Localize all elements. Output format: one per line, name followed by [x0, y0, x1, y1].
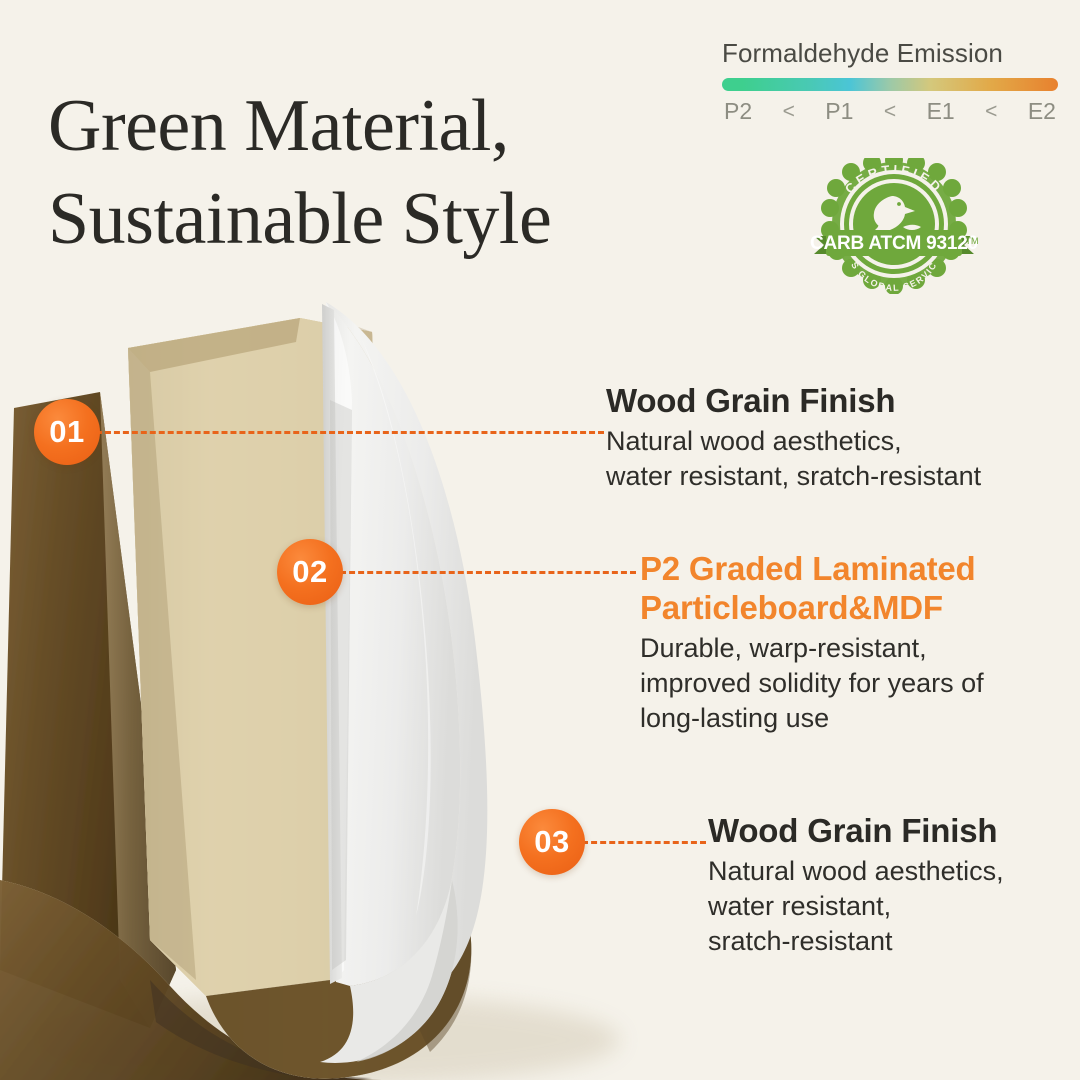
emission-label-e2: E2	[1028, 98, 1056, 125]
layered-board-illustration	[0, 280, 700, 1080]
badge-trademark: TM	[966, 236, 979, 246]
white-laminate-layer	[320, 302, 487, 1063]
formaldehyde-emission-scale: Formaldehyde Emission P2 < P1 < E1 < E2	[722, 38, 1058, 125]
callout-2-title-line-1: P2 Graded Laminated	[640, 550, 984, 589]
carb-certification-badge: CERTIFIED CARB ATCM 93120 TM SCS GLOBAL …	[796, 158, 992, 294]
callout-wood-grain-finish-bottom: Wood Grain Finish Natural wood aesthetic…	[708, 812, 1004, 959]
headline-line-2: Sustainable Style	[48, 173, 748, 266]
callout-3-body: Natural wood aesthetics, water resistant…	[708, 854, 1004, 959]
emission-label-p1: P1	[825, 98, 853, 125]
emission-gradient-bar	[722, 78, 1058, 91]
emission-title: Formaldehyde Emission	[722, 38, 1058, 69]
emission-scale-labels: P2 < P1 < E1 < E2	[722, 98, 1058, 125]
callout-3-body-line-2: water resistant,	[708, 889, 1004, 924]
emission-label-p2: P2	[724, 98, 752, 125]
emission-separator-2: <	[884, 100, 896, 124]
emission-separator-1: <	[783, 100, 795, 124]
callout-p2-graded-laminated: P2 Graded Laminated Particleboard&MDF Du…	[640, 550, 984, 736]
callout-2-body-line-2: improved solidity for years of	[640, 666, 984, 701]
callout-3-body-line-1: Natural wood aesthetics,	[708, 854, 1004, 889]
headline-line-1: Green Material,	[48, 85, 509, 167]
callout-wood-grain-finish-top: Wood Grain Finish Natural wood aesthetic…	[606, 382, 981, 494]
callout-2-body-line-1: Durable, warp-resistant,	[640, 631, 984, 666]
leader-line-1	[96, 431, 604, 434]
emission-label-e1: E1	[927, 98, 955, 125]
callout-2-body-line-3: long-lasting use	[640, 701, 984, 736]
callout-1-title: Wood Grain Finish	[606, 382, 981, 421]
callout-3-title: Wood Grain Finish	[708, 812, 1004, 851]
marker-03[interactable]: 03	[519, 809, 585, 875]
leader-line-3	[582, 841, 706, 844]
callout-1-body-line-1: Natural wood aesthetics,	[606, 424, 981, 459]
callout-2-body: Durable, warp-resistant, improved solidi…	[640, 631, 984, 736]
callout-2-title: P2 Graded Laminated Particleboard&MDF	[640, 550, 984, 628]
callout-3-body-line-3: sratch-resistant	[708, 924, 1004, 959]
leader-line-2	[340, 571, 636, 574]
emission-separator-3: <	[985, 100, 997, 124]
callout-1-body: Natural wood aesthetics, water resistant…	[606, 424, 981, 494]
marker-02[interactable]: 02	[277, 539, 343, 605]
badge-banner-text: CARB ATCM 93120	[810, 233, 978, 254]
callout-1-body-line-2: water resistant, sratch-resistant	[606, 459, 981, 494]
marker-01[interactable]: 01	[34, 399, 100, 465]
page-title: Green Material, Sustainable Style	[48, 80, 748, 266]
infographic-page: Green Material, Sustainable Style Formal…	[0, 0, 1080, 1080]
callout-2-title-line-2: Particleboard&MDF	[640, 589, 984, 628]
